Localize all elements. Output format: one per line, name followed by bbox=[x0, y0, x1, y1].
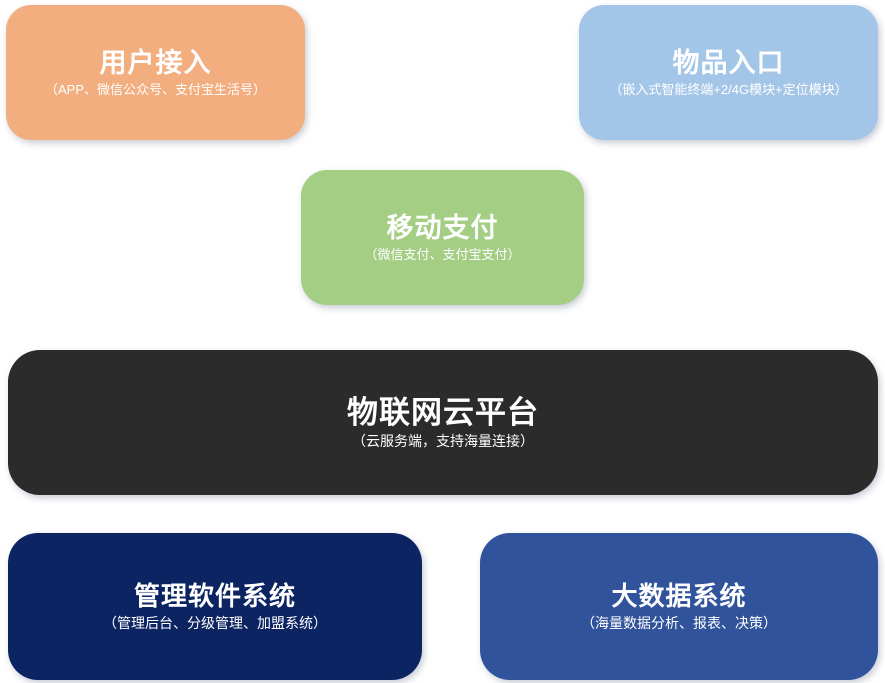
node-management-system-subtitle: （管理后台、分级管理、加盟系统） bbox=[103, 615, 327, 632]
node-iot-platform[interactable]: 物联网云平台 （云服务端，支持海量连接） bbox=[8, 350, 878, 495]
node-bigdata-system-subtitle: （海量数据分析、报表、决策） bbox=[581, 615, 777, 632]
node-bigdata-system[interactable]: 大数据系统 （海量数据分析、报表、决策） bbox=[480, 533, 878, 680]
node-mobile-payment-subtitle: （微信支付、支付宝支付） bbox=[364, 247, 520, 263]
node-item-entry-title: 物品入口 bbox=[673, 48, 785, 79]
diagram-canvas: 用户接入 （APP、微信公众号、支付宝生活号） 物品入口 （嵌入式智能终端+2/… bbox=[0, 0, 885, 683]
node-mobile-payment-title: 移动支付 bbox=[387, 213, 499, 244]
node-iot-platform-title: 物联网云平台 bbox=[347, 395, 539, 431]
node-user-access-subtitle: （APP、微信公众号、支付宝生活号） bbox=[45, 82, 266, 98]
node-iot-platform-subtitle: （云服务端，支持海量连接） bbox=[352, 433, 534, 450]
node-management-system-title: 管理软件系统 bbox=[134, 582, 296, 612]
node-management-system[interactable]: 管理软件系统 （管理后台、分级管理、加盟系统） bbox=[8, 533, 422, 680]
node-user-access-title: 用户接入 bbox=[100, 48, 212, 79]
node-user-access[interactable]: 用户接入 （APP、微信公众号、支付宝生活号） bbox=[6, 5, 305, 140]
node-item-entry[interactable]: 物品入口 （嵌入式智能终端+2/4G模块+定位模块） bbox=[579, 5, 878, 140]
node-bigdata-system-title: 大数据系统 bbox=[611, 582, 746, 612]
node-mobile-payment[interactable]: 移动支付 （微信支付、支付宝支付） bbox=[301, 170, 584, 305]
node-item-entry-subtitle: （嵌入式智能终端+2/4G模块+定位模块） bbox=[609, 82, 847, 98]
